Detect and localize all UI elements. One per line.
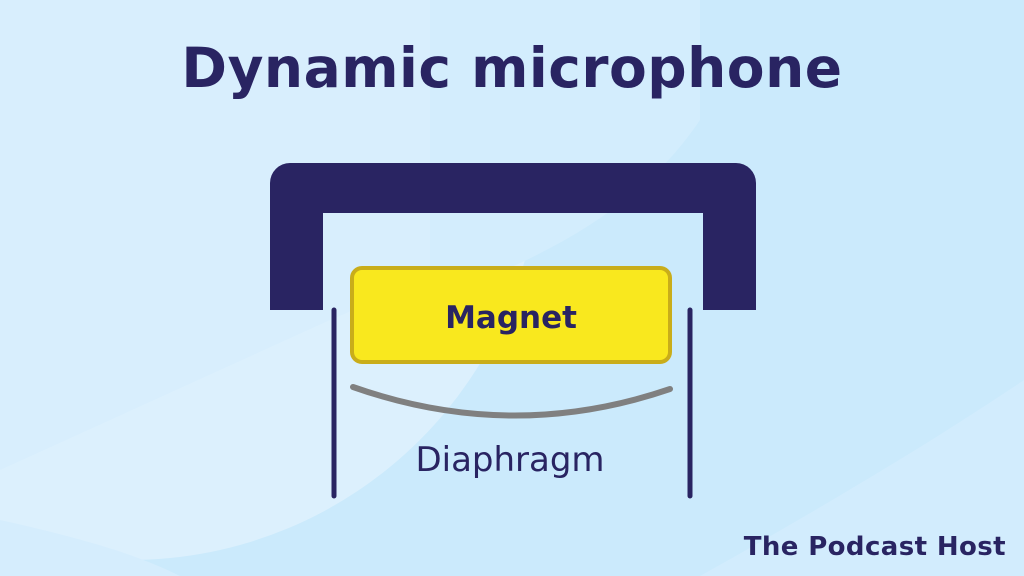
magnet-label: Magnet bbox=[352, 300, 670, 336]
microphone-diagram: Magnet Diaphragm bbox=[0, 0, 1024, 576]
diaphragm-arc bbox=[353, 387, 670, 416]
slide-canvas: Dynamic microphone Magnet Diaphragm The … bbox=[0, 0, 1024, 576]
microphone-diagram-svg bbox=[0, 0, 1024, 576]
brand-logo: The Podcast Host bbox=[744, 532, 1006, 562]
diaphragm-label: Diaphragm bbox=[310, 440, 710, 480]
